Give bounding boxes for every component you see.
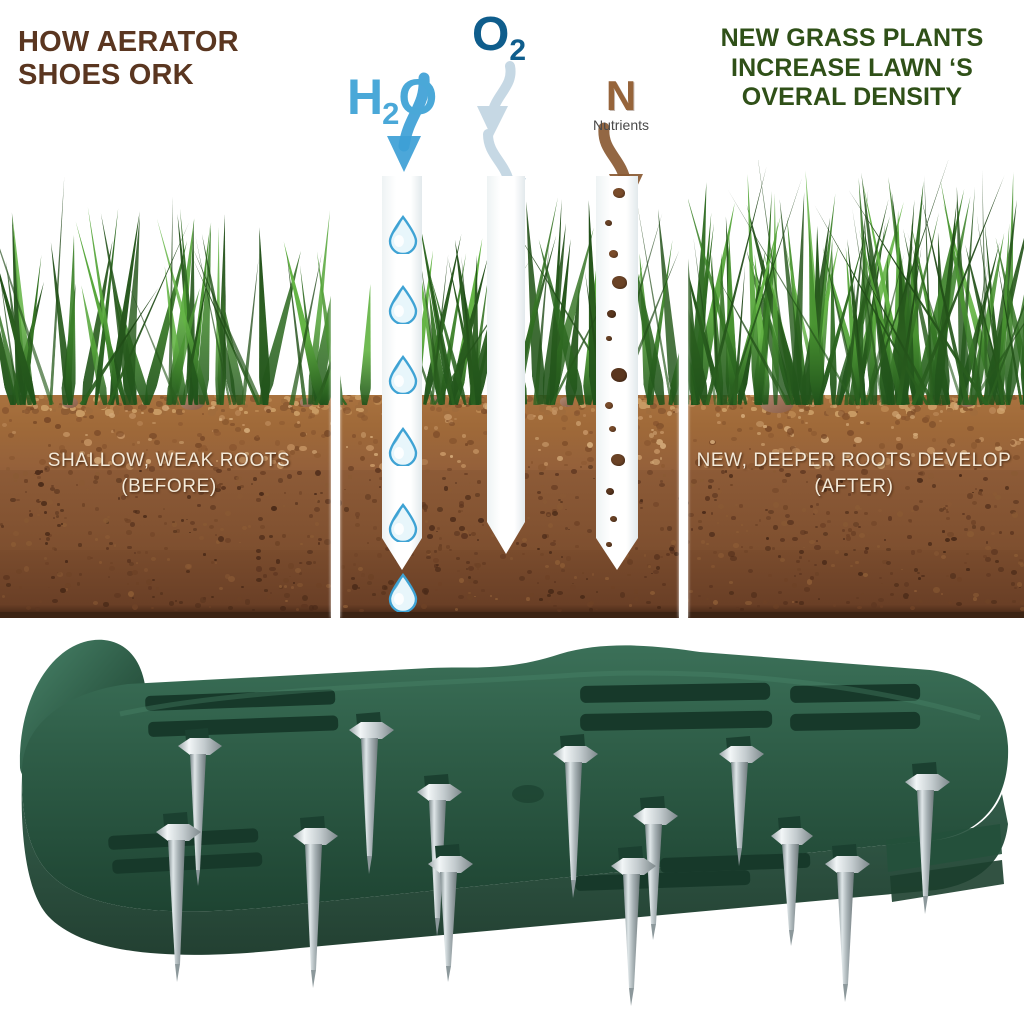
soil-speck [211, 596, 214, 598]
channel-shaft [596, 176, 638, 538]
soil-speck [446, 545, 450, 549]
soil-speck [84, 439, 92, 445]
soil-speck [481, 589, 484, 592]
soil-speck [780, 558, 786, 562]
soil-speck [627, 574, 631, 577]
soil-speck [125, 410, 128, 413]
soil-speck [917, 549, 922, 552]
soil-speck [51, 576, 55, 579]
soil-speck [531, 461, 534, 464]
soil-speck [299, 572, 302, 575]
soil-speck [810, 505, 813, 508]
soil-speck [285, 600, 288, 602]
soil-speck [554, 581, 556, 583]
soil-speck [967, 426, 973, 431]
soil-speck [701, 540, 705, 544]
nutrient-particle [610, 516, 617, 522]
soil-speck [318, 542, 320, 544]
soil-speck [478, 518, 484, 523]
soil-speck [35, 607, 41, 612]
soil-speck [802, 508, 806, 512]
soil-speck [509, 598, 512, 600]
soil-speck [798, 416, 801, 419]
soil-speck [542, 442, 549, 447]
soil-speck [24, 518, 29, 523]
soil-speck [39, 508, 41, 510]
soil-speck [595, 608, 598, 610]
soil-speck [778, 591, 782, 594]
soil-speck [858, 572, 863, 576]
soil-speck [654, 554, 660, 560]
soil-speck [951, 537, 956, 541]
soil-speck [545, 565, 549, 568]
soil-speck [11, 542, 17, 547]
soil-speck [904, 416, 909, 421]
soil-speck [555, 560, 560, 565]
soil-speck [13, 531, 19, 535]
soil-speck [446, 420, 449, 422]
soil-speck [195, 603, 201, 607]
soil-speck [660, 556, 662, 558]
soil-speck [299, 562, 302, 564]
soil-crumb [358, 408, 364, 413]
soil-speck [773, 502, 779, 508]
soil-speck [698, 595, 701, 597]
soil-speck [1020, 563, 1024, 566]
soil-speck [985, 557, 990, 562]
soil-speck [318, 538, 322, 541]
soil-speck [855, 561, 859, 564]
soil-speck [941, 555, 947, 560]
soil-speck [82, 503, 86, 506]
soil-speck [530, 593, 534, 597]
soil-speck [932, 438, 936, 442]
soil-speck [844, 553, 848, 556]
soil-speck [132, 443, 135, 446]
soil-speck [596, 591, 598, 593]
soil-speck [375, 468, 381, 474]
soil-crumb [301, 408, 306, 412]
soil-speck [510, 557, 513, 560]
soil-speck [985, 599, 991, 604]
soil-speck [663, 474, 666, 477]
soil-speck [773, 525, 778, 530]
soil-speck [989, 407, 996, 414]
nutrient-particle [611, 368, 627, 382]
soil-speck [282, 534, 286, 538]
soil-speck [280, 606, 286, 610]
soil-speck [175, 600, 177, 602]
soil-speck [302, 595, 308, 601]
soil-speck [93, 601, 98, 605]
soil-speck [136, 562, 138, 564]
soil-speck [202, 413, 205, 415]
soil-speck [436, 531, 438, 533]
soil-speck [467, 440, 474, 446]
water-droplet-icon [386, 502, 420, 542]
soil-speck [560, 501, 563, 503]
soil-speck [307, 550, 313, 554]
soil-speck [583, 430, 589, 435]
soil-speck [288, 563, 293, 568]
soil-speck [818, 598, 821, 600]
soil-speck [434, 550, 437, 552]
soil-speck [239, 440, 245, 446]
soil-speck [105, 535, 111, 540]
soil-speck [152, 422, 156, 425]
soil-speck [442, 477, 446, 480]
soil-speck [151, 557, 156, 561]
soil-speck [640, 507, 642, 509]
soil-speck [449, 438, 456, 444]
soil-speck [550, 542, 556, 546]
soil-speck [886, 561, 891, 565]
soil-speck [229, 418, 233, 421]
soil-speck [78, 543, 82, 546]
soil-speck [565, 451, 572, 457]
soil-speck [52, 599, 58, 604]
soil-speck [1012, 512, 1018, 518]
soil-crumb [182, 410, 186, 413]
soil-speck [803, 547, 805, 549]
soil-speck [1020, 607, 1024, 611]
soil-speck [148, 438, 152, 442]
nutrient-particle [611, 454, 625, 466]
soil-speck [914, 590, 917, 592]
soil-speck [544, 462, 548, 466]
soil-speck [186, 519, 188, 521]
soil-speck [538, 449, 541, 451]
soil-speck [581, 461, 586, 465]
soil-crumb [826, 408, 834, 415]
soil-speck [878, 509, 882, 512]
soil-speck [214, 559, 217, 561]
soil-speck [215, 534, 218, 536]
soil-crumb [53, 409, 57, 412]
soil-speck [557, 456, 562, 461]
soil-speck [181, 519, 185, 522]
soil-speck [358, 441, 362, 445]
soil-speck [284, 585, 287, 588]
nutrient-particle [605, 402, 613, 409]
nutrient-particle [609, 250, 618, 258]
aeration-diagram: HOW AERATOR SHOES ORK NEW GRASS PLANTS I… [0, 0, 1024, 618]
soil-speck [353, 563, 356, 566]
soil-speck [975, 439, 981, 443]
soil-speck [1, 525, 4, 528]
soil-speck [60, 588, 66, 593]
soil-speck [706, 543, 709, 545]
soil-speck [137, 421, 143, 426]
soil-speck [946, 511, 949, 513]
soil-crumb [153, 409, 161, 416]
soil-speck [435, 589, 438, 591]
soil-speck [576, 421, 581, 426]
soil-speck [620, 592, 626, 598]
soil-crumb [244, 411, 248, 414]
soil-crumb [722, 408, 727, 412]
soil-speck [471, 532, 475, 536]
soil-speck [347, 589, 351, 593]
soil-speck [44, 557, 48, 560]
soil-speck [48, 444, 51, 447]
nutrient-label-group: N Nutrients [578, 76, 664, 133]
soil-speck [134, 552, 136, 554]
soil-speck [939, 420, 943, 422]
soil-speck [880, 605, 883, 607]
soil-speck [343, 407, 351, 414]
soil-speck [778, 426, 782, 429]
soil-speck [801, 420, 805, 424]
soil-crumb [86, 408, 93, 414]
soil-speck [761, 443, 765, 446]
soil-speck [433, 558, 439, 563]
soil-speck [946, 517, 950, 520]
soil-speck [709, 607, 711, 609]
soil-speck [107, 516, 109, 518]
infographic-page: HOW AERATOR SHOES ORK NEW GRASS PLANTS I… [0, 0, 1024, 1024]
soil-speck [95, 538, 98, 540]
soil-speck [913, 433, 918, 436]
soil-speck [24, 566, 30, 572]
soil-speck [799, 573, 801, 575]
water-formula-label: H2O [347, 72, 436, 129]
soil-speck [1011, 570, 1017, 575]
grass-section-after [684, 160, 1024, 405]
soil-speck [653, 502, 659, 508]
soil-speck [634, 589, 639, 594]
soil-speck [757, 605, 760, 607]
soil-speck [994, 505, 997, 508]
soil-speck [730, 556, 736, 561]
soil-speck [256, 566, 262, 571]
soil-speck [991, 549, 997, 555]
soil-speck [95, 507, 99, 511]
soil-speck [697, 557, 701, 561]
soil-speck [646, 601, 651, 604]
soil-speck [30, 407, 34, 410]
soil-speck [348, 466, 354, 471]
soil-speck [279, 585, 282, 588]
soil-speck [439, 537, 443, 541]
soil-speck [973, 597, 977, 601]
soil-crumb [544, 410, 551, 416]
soil-speck [264, 589, 268, 592]
soil-speck [225, 538, 230, 543]
soil-speck [527, 517, 530, 519]
soil-speck [731, 437, 736, 441]
soil-speck [433, 431, 440, 437]
soil-crumb [255, 410, 259, 413]
soil-speck [228, 576, 234, 582]
soil-speck [946, 575, 948, 577]
soil-speck [245, 599, 251, 605]
soil-speck [757, 432, 761, 435]
soil-speck [766, 537, 769, 540]
water-droplet-icon [386, 426, 420, 466]
soil-speck [890, 572, 894, 575]
soil-speck [895, 420, 900, 425]
soil-speck [214, 431, 221, 436]
soil-speck [749, 546, 752, 549]
soil-speck [918, 577, 921, 580]
water-droplet-icon [386, 354, 420, 394]
soil-speck [129, 413, 136, 419]
soil-speck [456, 557, 460, 560]
soil-speck [344, 489, 346, 491]
soil-speck [449, 422, 454, 426]
soil-speck [589, 608, 593, 611]
soil-speck [474, 552, 478, 555]
soil-speck [904, 582, 909, 587]
soil-speck [430, 406, 435, 411]
soil-speck [966, 553, 969, 555]
soil-speck [797, 568, 801, 571]
soil-speck [669, 547, 673, 551]
soil-speck [552, 407, 558, 412]
channel-tip [596, 538, 638, 570]
soil-speck [650, 591, 655, 595]
nutrient-particle [606, 336, 612, 341]
soil-speck [907, 535, 911, 539]
soil-speck [312, 605, 318, 610]
soil-speck [557, 608, 562, 612]
soil-speck [985, 546, 991, 551]
soil-speck [537, 491, 541, 494]
soil-speck [29, 510, 31, 512]
soil-speck [2, 407, 9, 413]
soil-speck [482, 524, 484, 526]
soil-speck [295, 502, 298, 504]
soil-speck [87, 556, 92, 560]
soil-speck [326, 584, 331, 588]
soil-speck [114, 544, 117, 546]
soil-speck [729, 581, 732, 584]
soil-speck [901, 569, 903, 571]
soil-speck [816, 540, 818, 542]
soil-speck [711, 565, 715, 568]
soil-speck [426, 556, 431, 560]
soil-speck [464, 473, 467, 476]
soil-speck [379, 486, 382, 488]
soil-speck [355, 523, 360, 526]
soil-speck [745, 601, 751, 606]
soil-speck [172, 521, 175, 523]
soil-speck [940, 410, 943, 413]
soil-speck [795, 601, 798, 603]
soil-speck [1014, 554, 1017, 557]
soil-speck [804, 531, 808, 534]
soil-speck [162, 405, 169, 411]
soil-speck [242, 424, 245, 426]
soil-caption-after: NEW, DEEPER ROOTS DEVELOP (AFTER) [694, 448, 1014, 499]
soil-speck [48, 587, 50, 589]
soil-speck [942, 530, 946, 533]
soil-speck [941, 593, 944, 596]
soil-speck [163, 508, 165, 510]
soil-speck [972, 501, 977, 505]
soil-speck [785, 514, 790, 518]
soil-speck [241, 586, 244, 589]
soil-speck [126, 530, 132, 534]
soil-speck [580, 466, 582, 468]
soil-speck [799, 601, 803, 605]
soil-speck [437, 527, 441, 530]
soil-speck [986, 573, 991, 577]
soil-speck [372, 499, 377, 502]
section-divider-left [331, 160, 340, 618]
soil-speck [128, 591, 134, 597]
soil-speck [156, 587, 160, 590]
soil-speck [474, 596, 476, 598]
soil-speck [689, 590, 693, 593]
soil-speck [722, 421, 726, 425]
soil-speck [634, 597, 639, 602]
soil-speck [354, 553, 359, 558]
soil-speck [152, 596, 155, 598]
soil-speck [427, 534, 433, 539]
soil-speck [575, 545, 579, 548]
soil-speck [44, 511, 47, 514]
soil-speck [736, 531, 738, 533]
soil-crumb [947, 408, 953, 412]
soil-speck [657, 606, 661, 609]
soil-speck [60, 509, 64, 512]
soil-speck [555, 473, 559, 476]
soil-speck [1013, 500, 1019, 504]
soil-crumb [701, 405, 706, 409]
soil-speck [582, 572, 584, 574]
soil-speck [164, 522, 167, 525]
soil-speck [966, 515, 971, 520]
soil-speck [300, 432, 306, 437]
soil-speck [1017, 582, 1022, 587]
soil-speck [888, 516, 893, 521]
soil-speck [748, 569, 754, 574]
soil-speck [911, 409, 916, 413]
soil-speck [739, 504, 743, 508]
soil-speck [711, 512, 713, 514]
soil-speck [271, 506, 277, 511]
soil-speck [344, 507, 348, 511]
soil-speck [879, 577, 882, 579]
soil-speck [481, 409, 485, 412]
soil-speck [179, 601, 183, 604]
soil-speck [29, 513, 34, 517]
soil-speck [45, 562, 49, 565]
soil-crumb [881, 406, 888, 412]
soil-speck [557, 591, 562, 595]
soil-speck [820, 523, 826, 528]
soil-speck [553, 605, 557, 608]
soil-speck [352, 584, 358, 590]
soil-speck [135, 510, 140, 514]
soil-speck [193, 528, 197, 531]
soil-speck [475, 493, 479, 497]
soil-speck [203, 553, 206, 555]
soil-speck [827, 520, 830, 523]
soil-speck [644, 576, 647, 578]
soil-speck [538, 496, 543, 500]
soil-speck [787, 416, 791, 420]
soil-speck [77, 582, 81, 586]
water-formula-h: H [347, 69, 382, 125]
soil-speck [141, 412, 144, 414]
soil-speck [225, 511, 231, 516]
soil-speck [709, 585, 713, 588]
soil-speck [780, 538, 785, 542]
soil-speck [551, 485, 557, 491]
